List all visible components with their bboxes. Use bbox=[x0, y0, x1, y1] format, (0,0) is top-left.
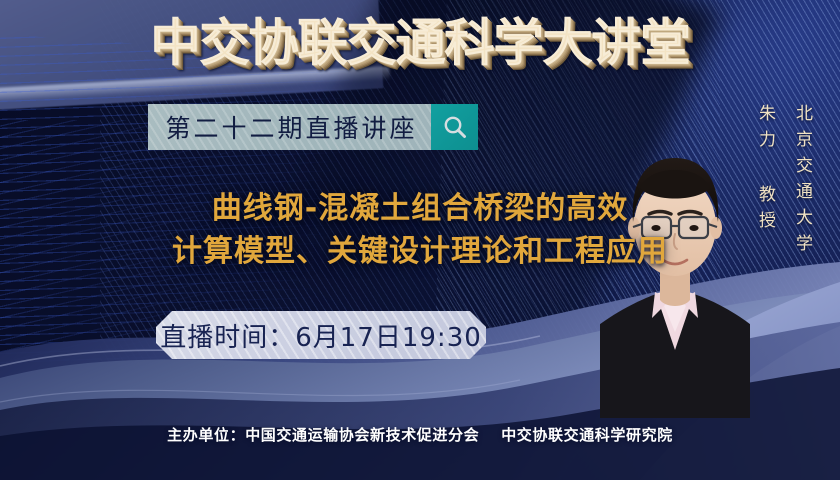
lecture-title-line1: 曲线钢-混凝土组合桥梁的高效 bbox=[0, 188, 840, 231]
footer-org-1: 中国交通运输协会新技术促进分会 bbox=[245, 426, 479, 444]
episode-label: 第二十二期直播讲座 bbox=[148, 104, 431, 150]
lecture-title: 曲线钢-混凝土组合桥梁的高效 计算模型、关键设计理论和工程应用 bbox=[0, 188, 840, 273]
speaker-organization: 北京交通大学 bbox=[790, 104, 815, 260]
lecture-title-line2: 计算模型、关键设计理论和工程应用 bbox=[0, 231, 840, 274]
footer-org-2: 中交协联交通科学研究院 bbox=[501, 426, 673, 444]
footer-organizers: 主办单位：中国交通运输协会新技术促进分会中交协联交通科学研究院 bbox=[0, 424, 840, 445]
page-title: 中交协联交通科学大讲堂 bbox=[0, 16, 840, 70]
search-button[interactable] bbox=[431, 104, 478, 150]
episode-bar: 第二十二期直播讲座 bbox=[148, 104, 478, 150]
footer-prefix: 主办单位： bbox=[167, 426, 245, 444]
broadcast-time-badge: 直播时间：6月17日19:30 bbox=[156, 311, 486, 359]
search-icon bbox=[442, 114, 468, 140]
lecture-poster: 中交协联交通科学大讲堂 第二十二期直播讲座 曲线钢-混凝土组合桥梁的高效 计算模… bbox=[0, 0, 840, 480]
speaker-name: 朱力 教授 bbox=[753, 104, 778, 237]
